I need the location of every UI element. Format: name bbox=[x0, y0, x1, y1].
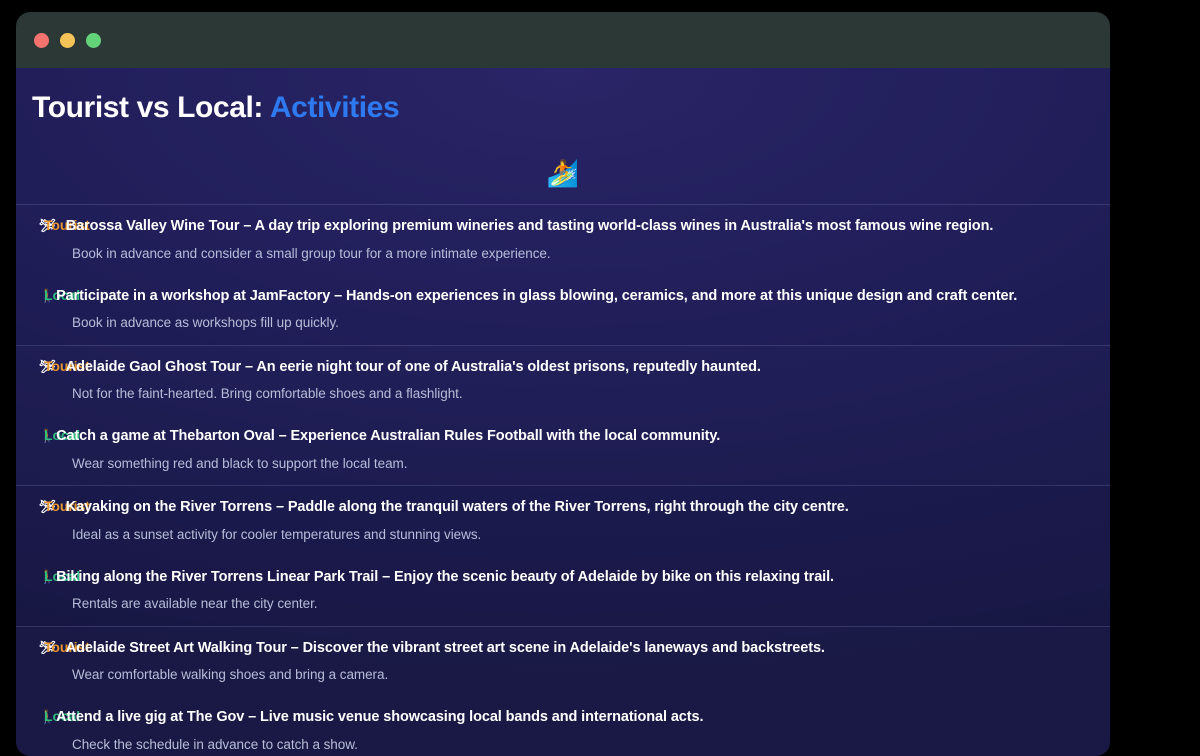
activity-row-main: 🚶LocalParticipate in a workshop at JamFa… bbox=[16, 286, 1110, 307]
activity-row-main: 🚶LocalAttend a live gig at The Gov – Liv… bbox=[16, 707, 1110, 728]
maximize-window-button[interactable] bbox=[86, 33, 101, 48]
activity-tip: Ideal as a sunset activity for cooler te… bbox=[16, 518, 1110, 544]
activity-row[interactable]: 🚶LocalAttend a live gig at The Gov – Liv… bbox=[16, 696, 1110, 756]
activity-tip: Wear something red and black to support … bbox=[16, 447, 1110, 473]
activity-tip: Rentals are available near the city cent… bbox=[16, 587, 1110, 613]
activity-title: Adelaide Gaol Ghost Tour – An eerie nigh… bbox=[99, 358, 761, 378]
activity-title: Attend a live gig at The Gov – Live musi… bbox=[89, 708, 703, 728]
activity-row-main: 🚶LocalCatch a game at Thebarton Oval – E… bbox=[16, 426, 1110, 447]
activity-tip: Wear comfortable walking shoes and bring… bbox=[16, 658, 1110, 684]
activity-group: 🛩TouristKayaking on the River Torrens – … bbox=[16, 485, 1110, 626]
page-title-accent: Activities bbox=[270, 91, 399, 124]
page-header: Tourist vs Local: Activities 🏄 bbox=[16, 68, 1110, 186]
activity-row-main: 🛩TouristAdelaide Street Art Walking Tour… bbox=[16, 638, 1110, 659]
activity-tip: Check the schedule in advance to catch a… bbox=[16, 728, 1110, 754]
minimize-window-button[interactable] bbox=[60, 33, 75, 48]
activity-title: Kayaking on the River Torrens – Paddle a… bbox=[99, 498, 849, 518]
activities-list: 🛩TouristBarossa Valley Wine Tour – A day… bbox=[16, 204, 1110, 756]
activity-row-main: 🚶LocalBiking along the River Torrens Lin… bbox=[16, 567, 1110, 588]
window-titlebar bbox=[16, 12, 1110, 68]
activity-tip: Not for the faint-hearted. Bring comfort… bbox=[16, 377, 1110, 403]
activity-row[interactable]: 🛩TouristAdelaide Gaol Ghost Tour – An ee… bbox=[16, 346, 1110, 416]
activity-tip: Book in advance and consider a small gro… bbox=[16, 237, 1110, 263]
activity-row-main: 🛩TouristBarossa Valley Wine Tour – A day… bbox=[16, 216, 1110, 237]
activity-title: Catch a game at Thebarton Oval – Experie… bbox=[89, 427, 720, 447]
app-window: Tourist vs Local: Activities 🏄 🛩TouristB… bbox=[16, 12, 1110, 756]
activity-row[interactable]: 🛩TouristAdelaide Street Art Walking Tour… bbox=[16, 627, 1110, 697]
page-title: Tourist vs Local: Activities bbox=[32, 90, 1110, 126]
activity-group: 🛩TouristBarossa Valley Wine Tour – A day… bbox=[16, 204, 1110, 345]
activity-row[interactable]: 🛩TouristBarossa Valley Wine Tour – A day… bbox=[16, 205, 1110, 275]
activity-row-main: 🛩TouristKayaking on the River Torrens – … bbox=[16, 497, 1110, 518]
activity-row[interactable]: 🚶LocalBiking along the River Torrens Lin… bbox=[16, 556, 1110, 626]
close-window-button[interactable] bbox=[34, 33, 49, 48]
activity-row-main: 🛩TouristAdelaide Gaol Ghost Tour – An ee… bbox=[16, 357, 1110, 378]
activity-title: Biking along the River Torrens Linear Pa… bbox=[89, 568, 834, 588]
page-body: Tourist vs Local: Activities 🏄 🛩TouristB… bbox=[16, 68, 1110, 756]
activity-title: Adelaide Street Art Walking Tour – Disco… bbox=[99, 639, 825, 659]
page-title-prefix: Tourist vs Local: bbox=[32, 91, 263, 124]
activity-row[interactable]: 🛩TouristKayaking on the River Torrens – … bbox=[16, 486, 1110, 556]
activity-tip: Book in advance as workshops fill up qui… bbox=[16, 306, 1110, 332]
activity-row[interactable]: 🚶LocalCatch a game at Thebarton Oval – E… bbox=[16, 415, 1110, 485]
activity-title: Participate in a workshop at JamFactory … bbox=[89, 287, 1017, 307]
activity-group: 🛩TouristAdelaide Street Art Walking Tour… bbox=[16, 626, 1110, 756]
surfer-icon: 🏄 bbox=[16, 160, 1110, 186]
activity-row[interactable]: 🚶LocalParticipate in a workshop at JamFa… bbox=[16, 275, 1110, 345]
activity-title: Barossa Valley Wine Tour – A day trip ex… bbox=[99, 217, 994, 237]
activity-group: 🛩TouristAdelaide Gaol Ghost Tour – An ee… bbox=[16, 345, 1110, 486]
